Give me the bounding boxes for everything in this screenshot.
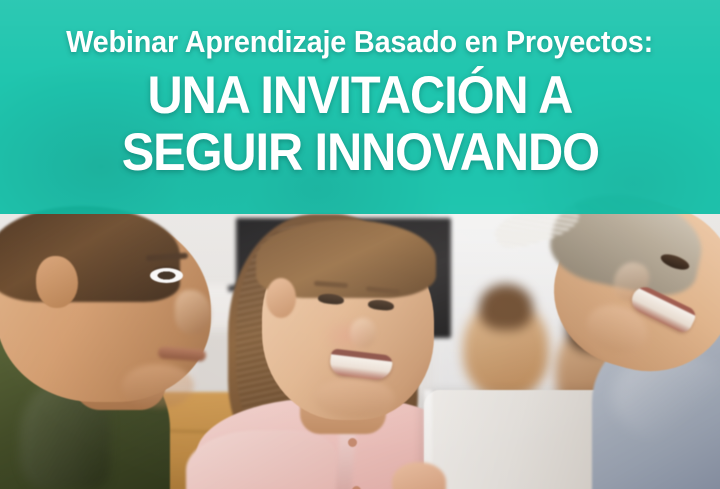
boy-chin [122,364,194,408]
boy-nose [175,290,211,334]
girl-cardigan-button-1 [348,438,357,447]
headline-line-2: SEGUIR INNOVANDO [121,126,598,181]
headline-kicker: Webinar Aprendizaje Basado en Proyectos: [67,26,654,58]
boy-eye [150,268,183,283]
headline-block: Webinar Aprendizaje Basado en Proyectos:… [0,0,720,214]
boy-ear [36,256,78,308]
webinar-promo-banner: Webinar Aprendizaje Basado en Proyectos:… [0,0,720,489]
headline-line-1: UNA INVITACIÓN A [148,69,573,124]
girl-chin [314,378,394,418]
girl-ear [266,278,296,318]
background-student-1 [463,298,549,398]
girl-nose [350,318,376,348]
